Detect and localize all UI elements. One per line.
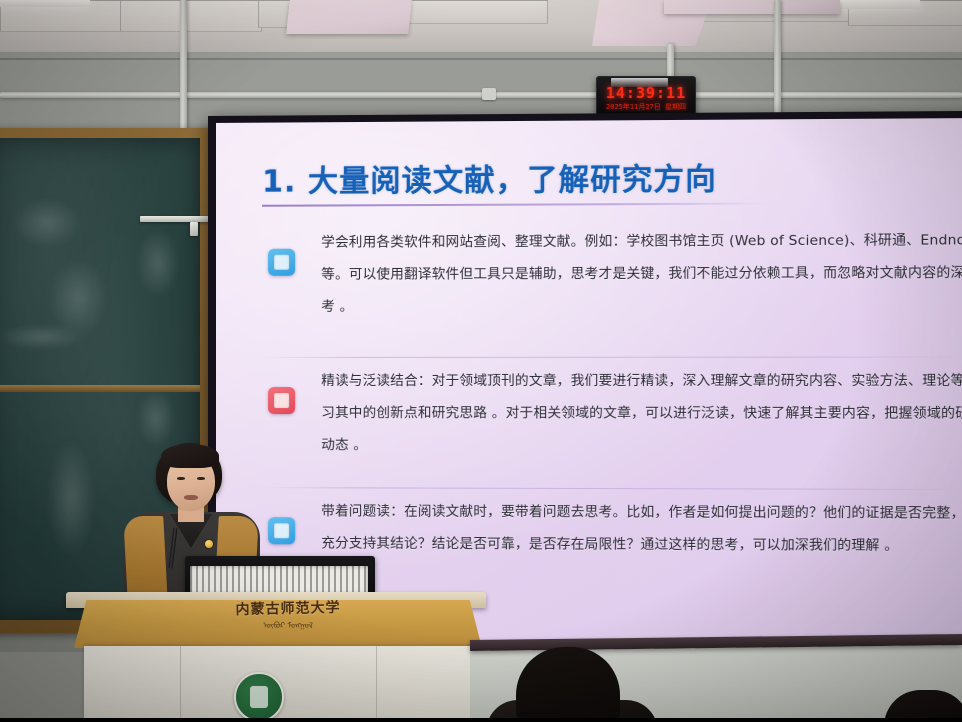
letterbox — [0, 718, 962, 722]
chalk-smudge — [136, 388, 176, 448]
slide-bullet-text: 带着问题读：在阅读文献时，要带着问题去思考。比如，作者是如何提出问题的？他们的证… — [321, 495, 962, 562]
clock-date: 2025年11月27日 星期四 — [606, 104, 686, 111]
slide-bullet-block: 带着问题读：在阅读文献时，要带着问题去思考。比如，作者是如何提出问题的？他们的证… — [268, 495, 962, 562]
slide-divider — [262, 487, 962, 490]
ceiling-light — [0, 0, 90, 7]
presenter-eye-left — [177, 477, 185, 480]
ceiling-panel — [286, 0, 412, 34]
book-reading-icon — [268, 387, 295, 414]
ceiling-conduit-horizontal — [0, 92, 962, 98]
chalkboard-track-stop — [190, 222, 198, 236]
podium-base-seam — [180, 646, 181, 722]
question-thinking-icon — [268, 517, 295, 544]
chalk-smudge — [46, 438, 96, 558]
chalk-smudge — [12, 198, 82, 248]
icon-glyph — [274, 255, 289, 270]
icon-glyph — [274, 523, 289, 538]
university-emblem — [234, 672, 284, 722]
slide-bullet-text: 学会利用各类软件和网站查阅、整理文献。例如：学校图书馆主页 (Web of Sc… — [321, 224, 962, 323]
wall-seam — [0, 58, 962, 60]
icon-glyph — [274, 393, 289, 408]
slide-bullet-text: 精读与泛读结合：对于领域顶刊的文章，我们要进行精读，深入理解文章的研究内容、实验… — [321, 365, 962, 463]
chalkboard-divider — [0, 385, 200, 392]
chalk-smudge — [136, 228, 180, 298]
slide-title: 1. 大量阅读文献，了解研究方向 — [262, 154, 717, 201]
slide-bullet-block: 精读与泛读结合：对于领域顶刊的文章，我们要进行精读，深入理解文章的研究内容、实验… — [268, 365, 962, 463]
emblem-glyph — [250, 686, 268, 708]
clock-glare — [611, 78, 668, 87]
podium-mongolian-script: ᠥᠪᠥᠷ ᠮᠣᠩᠭᠣᠯ — [198, 617, 378, 631]
podium-base-seam — [376, 646, 377, 722]
presenter-mouth — [184, 495, 198, 500]
presenter-badge — [205, 540, 213, 548]
presenter-eye-right — [197, 477, 205, 480]
presenter-fringe — [161, 444, 219, 468]
conduit-junction-box — [482, 88, 496, 100]
wall-digital-clock: 14:39:11 2025年11月27日 星期四 — [596, 76, 696, 118]
document-search-icon — [268, 249, 295, 276]
slide-bullet-block: 学会利用各类软件和网站查阅、整理文献。例如：学校图书馆主页 (Web of Sc… — [268, 224, 962, 323]
chalk-smudge — [0, 324, 86, 350]
slide-divider — [262, 357, 962, 358]
lecture-hall-scene: 14:39:11 2025年11月27日 星期四 1. 大量阅读文献，了解研究方… — [0, 0, 962, 722]
title-underline — [262, 203, 769, 207]
ceiling-panel — [664, 0, 840, 14]
ceiling-tile — [120, 0, 262, 32]
clock-time: 14:39:11 — [606, 86, 686, 101]
ceiling-tile — [396, 0, 548, 24]
